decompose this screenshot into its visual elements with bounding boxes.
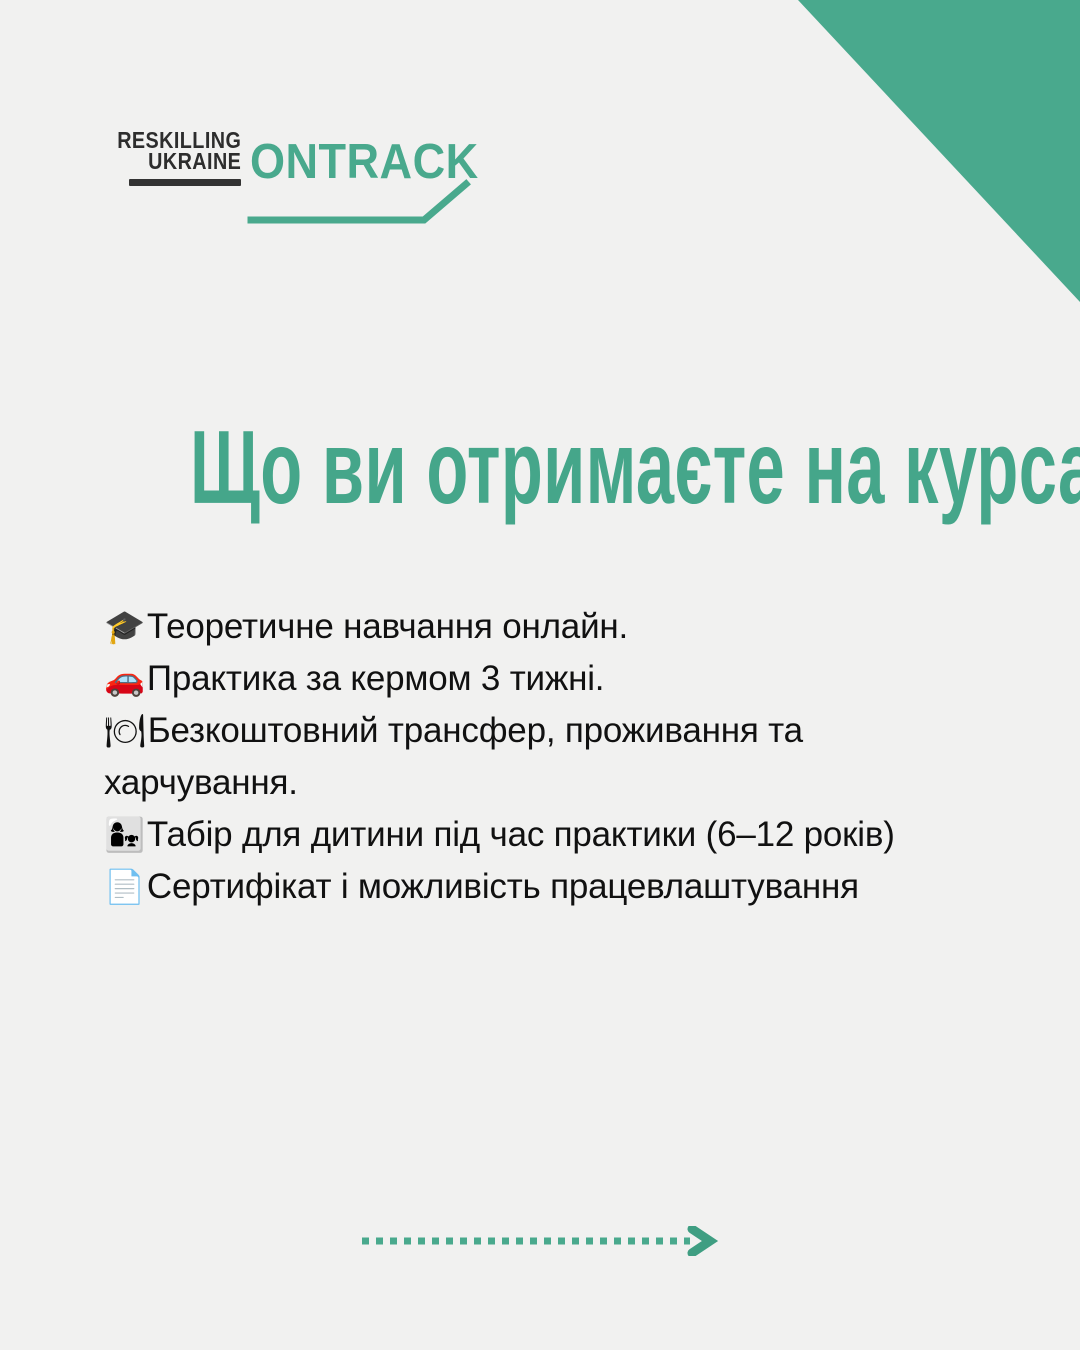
list-item: 👩‍👧Табір для дитини під час практики (6–… [104, 809, 960, 861]
list-item-text: Табір для дитини під час практики (6–12 … [147, 815, 895, 854]
logo-track-swoosh-icon [250, 183, 479, 229]
list-item-text: Практика за кермом 3 тижні. [147, 659, 604, 698]
woman-and-girl-icon: 👩‍👧 [104, 815, 145, 854]
logo-brand-text: ONTRACK [250, 139, 479, 186]
logo-ontrack: ONTRACK [250, 139, 498, 188]
logo-dark-rule [129, 179, 241, 186]
brand-logo: RESKILLING UKRAINE ONTRACK [97, 124, 499, 188]
list-item: 🎓Теоретичне навчання онлайн. [104, 601, 960, 653]
logo-line-ukraine: UKRAINE [148, 151, 241, 172]
swipe-next-arrow-icon[interactable] [360, 1226, 720, 1256]
page-document-icon: 📄 [104, 867, 145, 906]
list-item: 🍽Безкоштовний трансфер, проживання та ха… [104, 705, 960, 809]
page-title: Що ви отримаєте на курсах: [190, 418, 678, 520]
list-item-text: Безкоштовний трансфер, проживання та хар… [104, 711, 803, 802]
benefits-list: 🎓Теоретичне навчання онлайн. 🚗Практика з… [104, 601, 960, 913]
list-item-text: Теоретичне навчання онлайн. [147, 607, 628, 646]
fork-and-knife-with-plate-icon: 🍽 [104, 711, 146, 750]
logo-reskilling-ukraine: RESKILLING UKRAINE [97, 130, 241, 188]
list-item: 📄Сертифікат і можливість працевлаштуванн… [104, 861, 960, 913]
list-item: 🚗Практика за кермом 3 тижні. [104, 653, 960, 705]
corner-triangle-decoration [798, 0, 1080, 302]
car-icon: 🚗 [104, 659, 145, 698]
graduation-cap-icon: 🎓 [104, 607, 145, 646]
list-item-text: Сертифікат і можливість працевлаштування [147, 867, 859, 906]
slide-canvas: RESKILLING UKRAINE ONTRACK Що ви отримає… [0, 0, 1080, 1350]
